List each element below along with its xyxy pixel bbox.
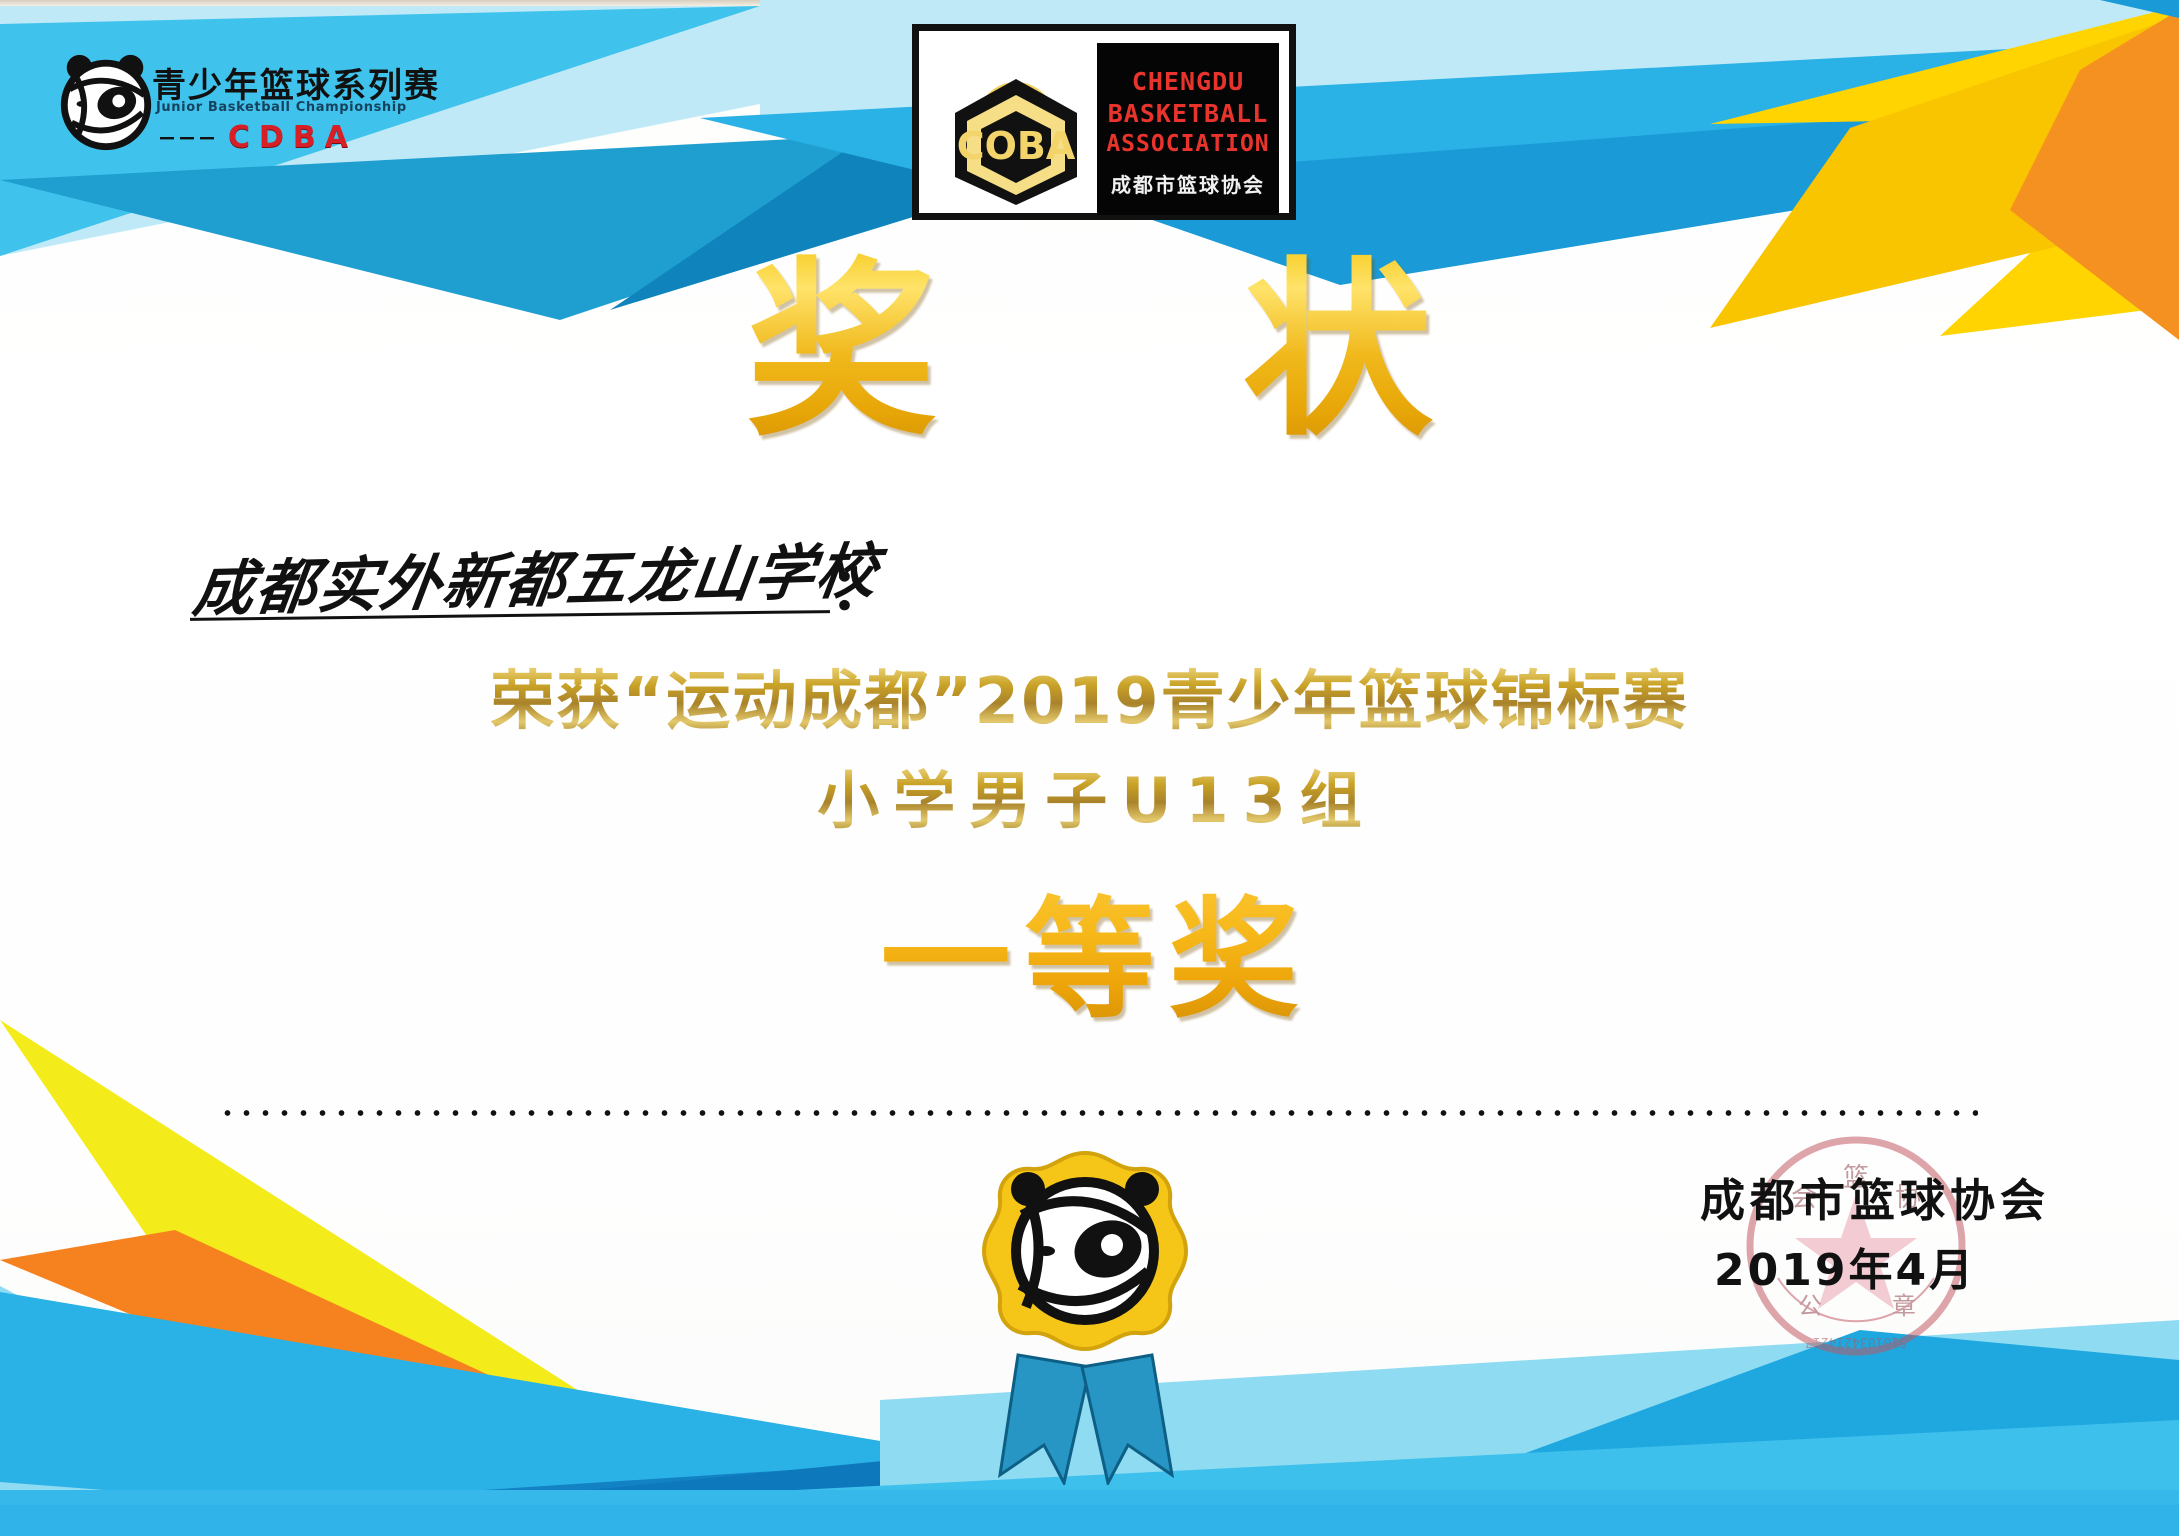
dotted-separator [218, 1108, 1978, 1118]
issuing-organization: 成都市篮球协会 [1700, 1164, 2030, 1229]
award-level: 一等奖 [0, 855, 2179, 1043]
dash-decoration-icon [160, 136, 222, 140]
panda-basketball-rosette-icon [940, 1145, 1230, 1485]
recipient-block: 成都实外新都五龙山学校 ： [190, 528, 910, 638]
coba-line-chinese: 成都市篮球协会 [1105, 169, 1271, 198]
award-description-line-2: 小学男子U13组 [0, 750, 2179, 840]
coba-text-plate: CHENGDU BASKETBALL ASSOCIATION 成都市篮球协会 [1097, 43, 1279, 215]
recipient-colon: ： [830, 542, 888, 626]
award-description-line-1: 荣获“运动成都”2019青少年篮球锦标赛 [0, 650, 2179, 742]
coba-line-association: ASSOCIATION [1105, 131, 1271, 157]
page-title: 奖 状 [0, 252, 2179, 452]
svg-text:COBA: COBA [957, 124, 1076, 168]
cdba-logo-english: Junior Basketball Championship [156, 100, 407, 115]
coba-line-chengdu: CHENGDU [1105, 67, 1271, 96]
cdba-abbreviation: CDBA [228, 120, 357, 155]
coba-line-basketball: BASKETBALL [1105, 99, 1271, 128]
coba-monogram-icon: COBA [941, 55, 1091, 205]
issue-date: 2019年4月 [1714, 1234, 2014, 1298]
cdba-logo: 青少年篮球系列赛 Junior Basketball Championship … [52, 44, 352, 162]
signature-block: 成都市篮球协会 2019年4月 [1700, 1150, 2030, 1350]
panda-basketball-icon [52, 48, 160, 156]
coba-logo-card: COBA CHENGDU BASKETBALL ASSOCIATION 成都市篮… [912, 24, 1296, 220]
decor-bottom-strip-2 [0, 1505, 2179, 1536]
certificate-page: 青少年篮球系列赛 Junior Basketball Championship … [0, 0, 2179, 1536]
